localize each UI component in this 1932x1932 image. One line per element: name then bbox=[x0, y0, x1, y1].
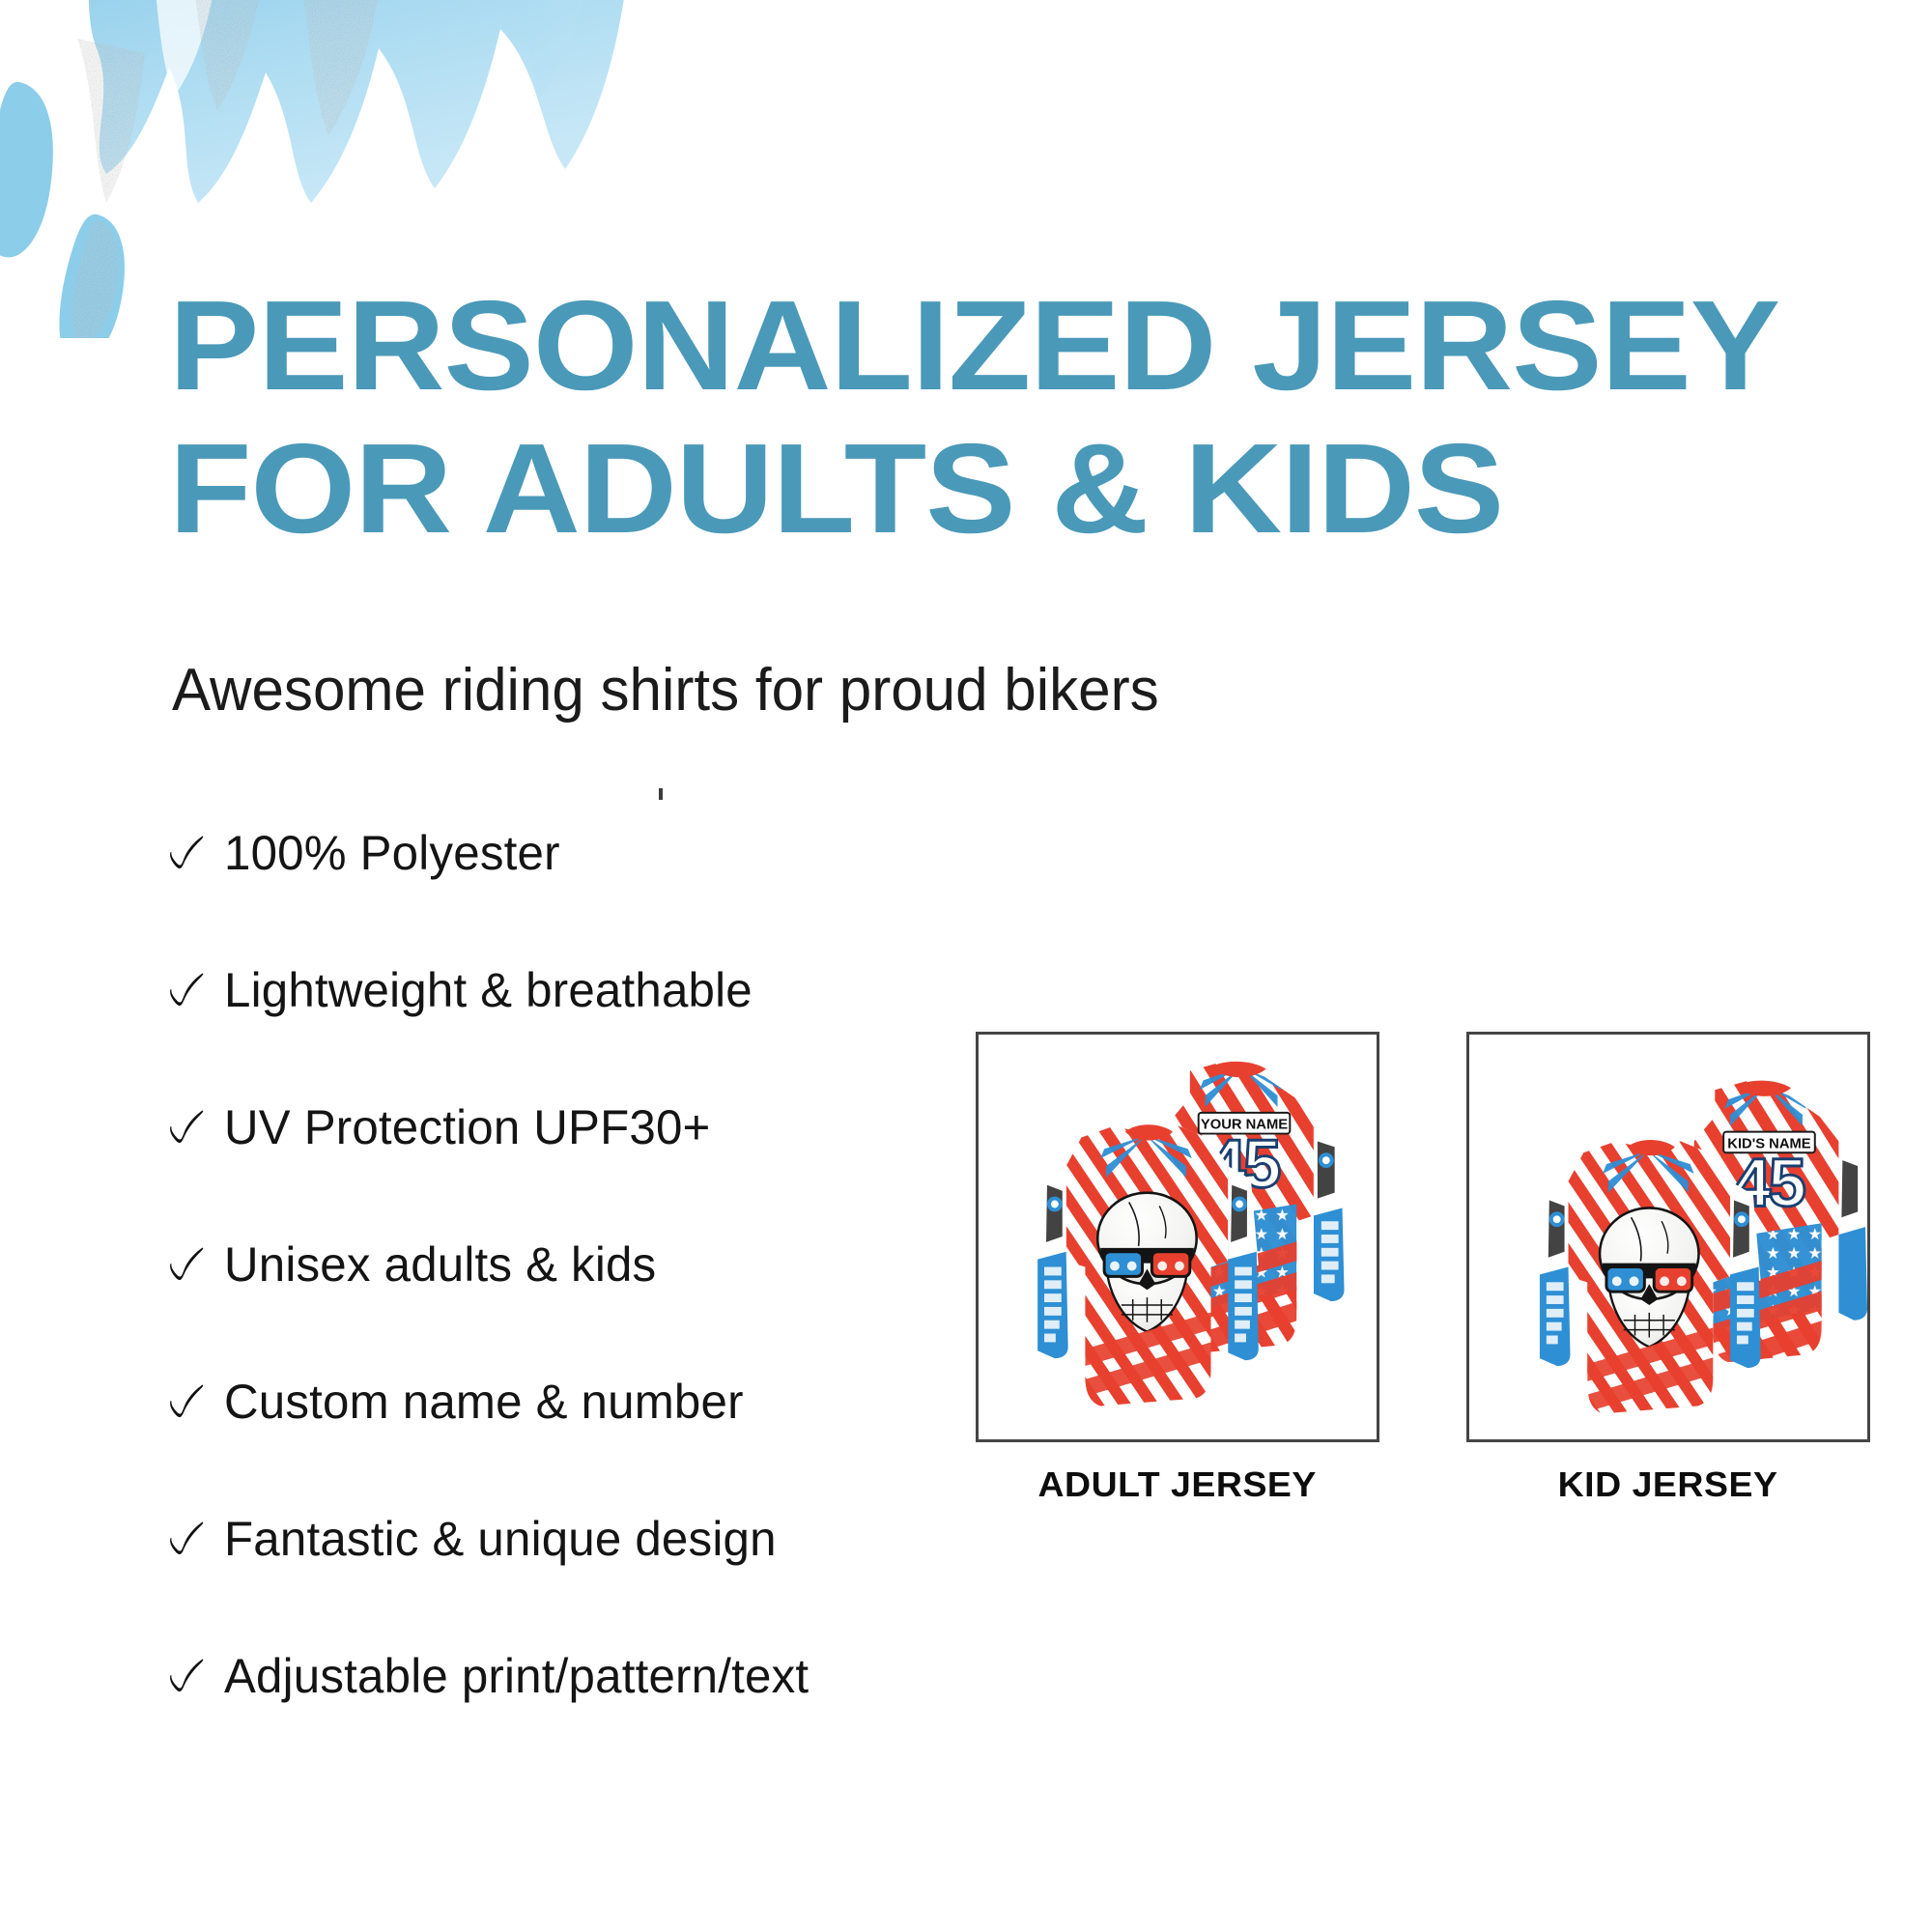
check-outline-icon bbox=[166, 1655, 209, 1697]
check-outline-icon bbox=[166, 969, 209, 1011]
product-card-adult[interactable]: YOUR NAME 45 bbox=[976, 1032, 1379, 1515]
list-item: Lightweight & breathable bbox=[166, 956, 958, 1024]
product-caption-adult: ADULT JERSEY bbox=[1038, 1464, 1317, 1505]
list-item: Adjustable print/pattern/text bbox=[166, 1642, 958, 1710]
headline-line-2: FOR ADULTS & KIDS bbox=[169, 417, 1828, 560]
list-item-label: Adjustable print/pattern/text bbox=[224, 1648, 809, 1704]
feature-list: 100% Polyester Lightweight & breathable … bbox=[166, 819, 958, 1710]
check-outline-icon bbox=[166, 1106, 209, 1149]
headline-line-1: PERSONALIZED JERSEY bbox=[169, 274, 1828, 417]
product-caption-kid: KID JERSEY bbox=[1558, 1464, 1778, 1505]
product-card-kid[interactable]: KID'S NAME 45 bbox=[1466, 1032, 1870, 1515]
list-item-label: Custom name & number bbox=[224, 1374, 744, 1430]
check-outline-icon bbox=[166, 1380, 209, 1423]
product-gallery: YOUR NAME 45 bbox=[976, 1032, 1806, 1515]
list-item: Unisex adults & kids bbox=[166, 1231, 958, 1298]
list-item-label: Lightweight & breathable bbox=[224, 962, 753, 1018]
list-item: 100% Polyester bbox=[166, 819, 958, 887]
list-item-label: Fantastic & unique design bbox=[224, 1511, 777, 1567]
list-item-label: 100% Polyester bbox=[224, 825, 560, 881]
list-item: Custom name & number bbox=[166, 1368, 958, 1435]
check-outline-icon bbox=[166, 1243, 209, 1286]
product-image-frame-kid[interactable]: KID'S NAME 45 bbox=[1466, 1032, 1870, 1442]
adult-jersey-illustration: YOUR NAME 45 bbox=[979, 1035, 1377, 1439]
page-title: PERSONALIZED JERSEY FOR ADULTS & KIDS bbox=[169, 274, 1828, 560]
product-image-frame-adult[interactable]: YOUR NAME 45 bbox=[976, 1032, 1379, 1442]
list-item: Fantastic & unique design bbox=[166, 1505, 958, 1573]
stray-mark-artifact bbox=[659, 788, 663, 800]
check-outline-icon bbox=[166, 1518, 209, 1560]
list-item-label: UV Protection UPF30+ bbox=[224, 1099, 711, 1155]
list-item: UV Protection UPF30+ bbox=[166, 1094, 958, 1161]
check-outline-icon bbox=[166, 832, 209, 874]
kid-jersey-illustration: KID'S NAME 45 bbox=[1469, 1035, 1867, 1439]
page-subtitle: Awesome riding shirts for proud bikers bbox=[172, 656, 1159, 724]
list-item-label: Unisex adults & kids bbox=[224, 1236, 656, 1293]
